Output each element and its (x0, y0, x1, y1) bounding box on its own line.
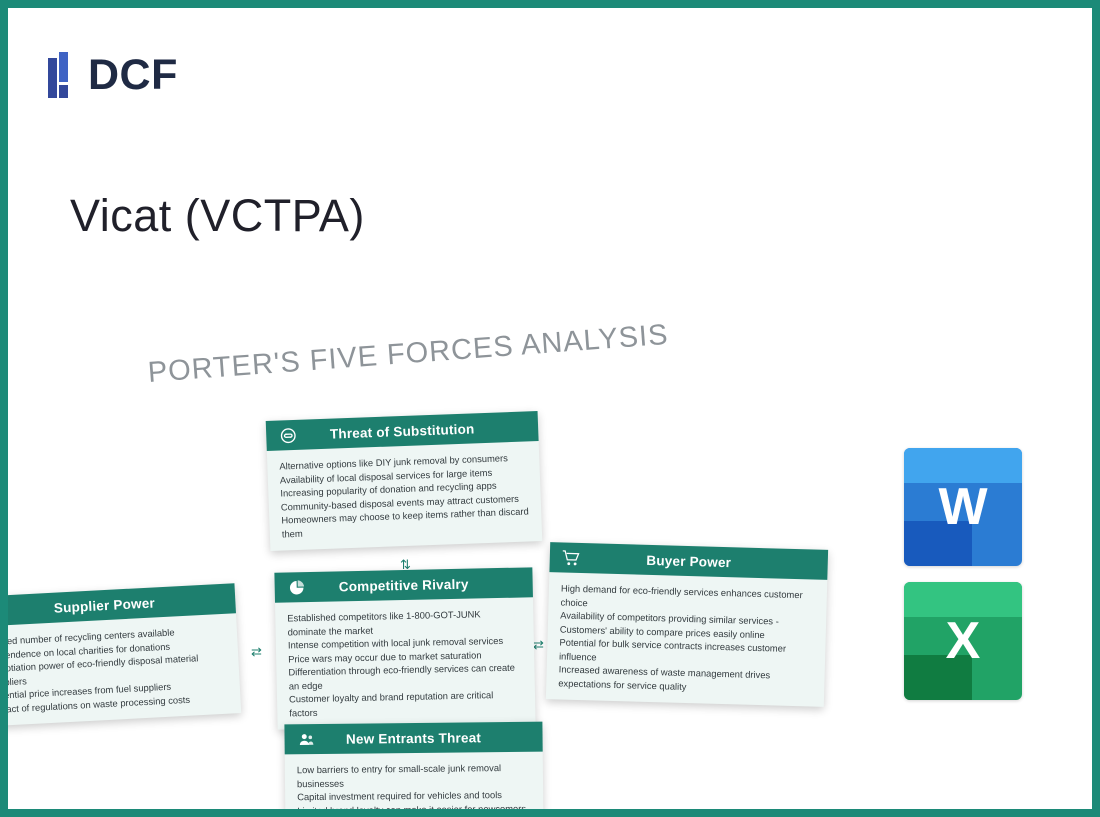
card-body: High demand for eco-friendly services en… (546, 572, 827, 707)
list-item: Increased awareness of waste management … (558, 662, 813, 696)
page-canvas: DCF Vicat (VCTPA) PORTER'S FIVE FORCES A… (8, 8, 1092, 809)
pie-chart-icon (286, 578, 305, 597)
card-threat-of-substitution: Threat of Substitution Alternative optio… (266, 411, 543, 551)
refresh-cycle-icon (278, 425, 298, 445)
diagram-title: PORTER'S FIVE FORCES ANALYSIS (147, 319, 670, 390)
connector-left-icon: ⇄ (251, 645, 260, 658)
word-letter: W (904, 448, 1022, 566)
card-supplier-power: Supplier Power Limited number of recycli… (8, 583, 241, 727)
card-title: Buyer Power (550, 550, 828, 573)
card-header: New Entrants Threat (284, 722, 542, 755)
card-body: Alternative options like DIY junk remova… (267, 441, 542, 551)
list-item: Customer loyalty and brand reputation ar… (289, 688, 524, 720)
card-title: Threat of Substitution (266, 419, 538, 444)
card-title: New Entrants Threat (284, 729, 542, 747)
card-competitive-rivalry: Competitive Rivalry Established competit… (274, 567, 535, 729)
card-body: Low barriers to entry for small-scale ju… (285, 752, 544, 809)
word-document-icon[interactable]: W (904, 448, 1022, 566)
card-buyer-power: Buyer Power High demand for eco-friendly… (546, 542, 828, 707)
dcf-bars-logo-icon (48, 52, 78, 98)
page-title: Vicat (VCTPA) (70, 190, 365, 242)
excel-letter: X (904, 582, 1022, 700)
card-body: Established competitors like 1-800-GOT-J… (275, 597, 536, 729)
card-new-entrants-threat: New Entrants Threat Low barriers to entr… (284, 722, 543, 809)
shopping-cart-icon (562, 548, 582, 568)
list-item: Low barriers to entry for small-scale ju… (297, 761, 531, 790)
brand-name: DCF (88, 54, 178, 97)
card-header: Competitive Rivalry (274, 567, 533, 602)
card-body: Limited number of recycling centers avai… (8, 613, 241, 727)
card-title: Competitive Rivalry (275, 575, 533, 595)
excel-spreadsheet-icon[interactable]: X (904, 582, 1022, 700)
user-group-icon (296, 730, 315, 749)
brand-logo[interactable]: DCF (48, 52, 178, 98)
office-file-icons: W X (904, 448, 1034, 716)
connector-right-icon: ⇄ (533, 638, 542, 651)
